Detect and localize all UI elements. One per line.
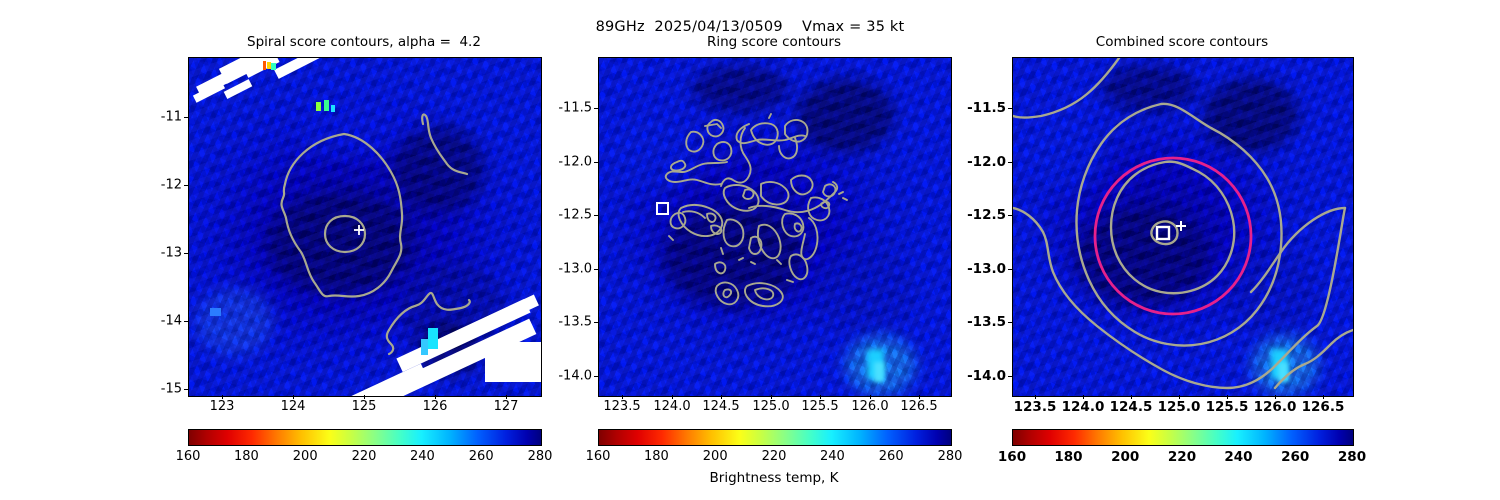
contour-line — [839, 192, 847, 200]
contour-line — [389, 293, 470, 330]
panel-title-ring: Ring score contours — [598, 34, 950, 50]
contour-overlay-spiral — [189, 58, 541, 396]
colorbar-ring — [598, 429, 952, 446]
axes-ring-score[interactable] — [598, 57, 952, 397]
contour-line — [785, 120, 808, 142]
contour-line — [1151, 221, 1177, 244]
colorbar-ticklabels-combined: 160 180 200 220 240 260 280 — [1012, 449, 1352, 467]
contour-line — [1111, 162, 1234, 294]
square-marker — [657, 203, 668, 214]
contour-line — [755, 288, 773, 299]
contour-line — [422, 114, 467, 174]
contour-line — [745, 283, 783, 306]
contour-line — [724, 219, 744, 246]
contour-line — [743, 189, 754, 199]
contour-line — [683, 211, 705, 218]
panel-title-combined: Combined score contours — [1012, 34, 1352, 50]
colorbar-combined — [1012, 429, 1354, 446]
colorbar-axis-label: Brightness temp, K — [598, 470, 950, 486]
contour-line — [823, 184, 835, 196]
contour-line — [1275, 330, 1353, 388]
contour-line — [1013, 58, 1119, 118]
contour-line — [723, 289, 731, 297]
contour-line — [713, 142, 731, 160]
contour-overlay-combined — [1013, 58, 1353, 396]
contour-line — [707, 213, 716, 222]
colorbar-ticklabels-spiral: 160 180 200 220 240 260 280 — [188, 449, 540, 467]
contour-line — [671, 161, 685, 171]
contour-line — [791, 176, 813, 195]
square-marker — [1157, 227, 1169, 239]
contour-line — [669, 236, 723, 254]
contour-line — [686, 132, 703, 152]
contour-line — [387, 330, 393, 354]
contour-line — [715, 262, 725, 273]
contour-line — [751, 260, 781, 264]
contour-overlay-ring — [599, 58, 951, 396]
figure-canvas: 89GHz 2025/04/13/0509 Vmax = 35 kt Spira… — [0, 0, 1500, 500]
colorbar-ticklabels-ring: 160 180 200 220 240 260 280 — [598, 449, 950, 467]
panel-title-spiral: Spiral score contours, alpha = 4.2 — [188, 34, 540, 50]
contour-line — [716, 283, 739, 305]
contour-line — [751, 123, 778, 145]
axes-spiral-score[interactable] — [188, 57, 542, 397]
contour-line — [795, 223, 802, 231]
contour-line — [666, 162, 727, 185]
ring-circle — [1095, 158, 1251, 314]
contour-line — [761, 182, 788, 205]
figure-suptitle: 89GHz 2025/04/13/0509 Vmax = 35 kt — [0, 19, 1500, 35]
contour-line — [739, 258, 793, 282]
axes-combined-score[interactable] — [1012, 57, 1354, 397]
colorbar-spiral — [188, 429, 542, 446]
